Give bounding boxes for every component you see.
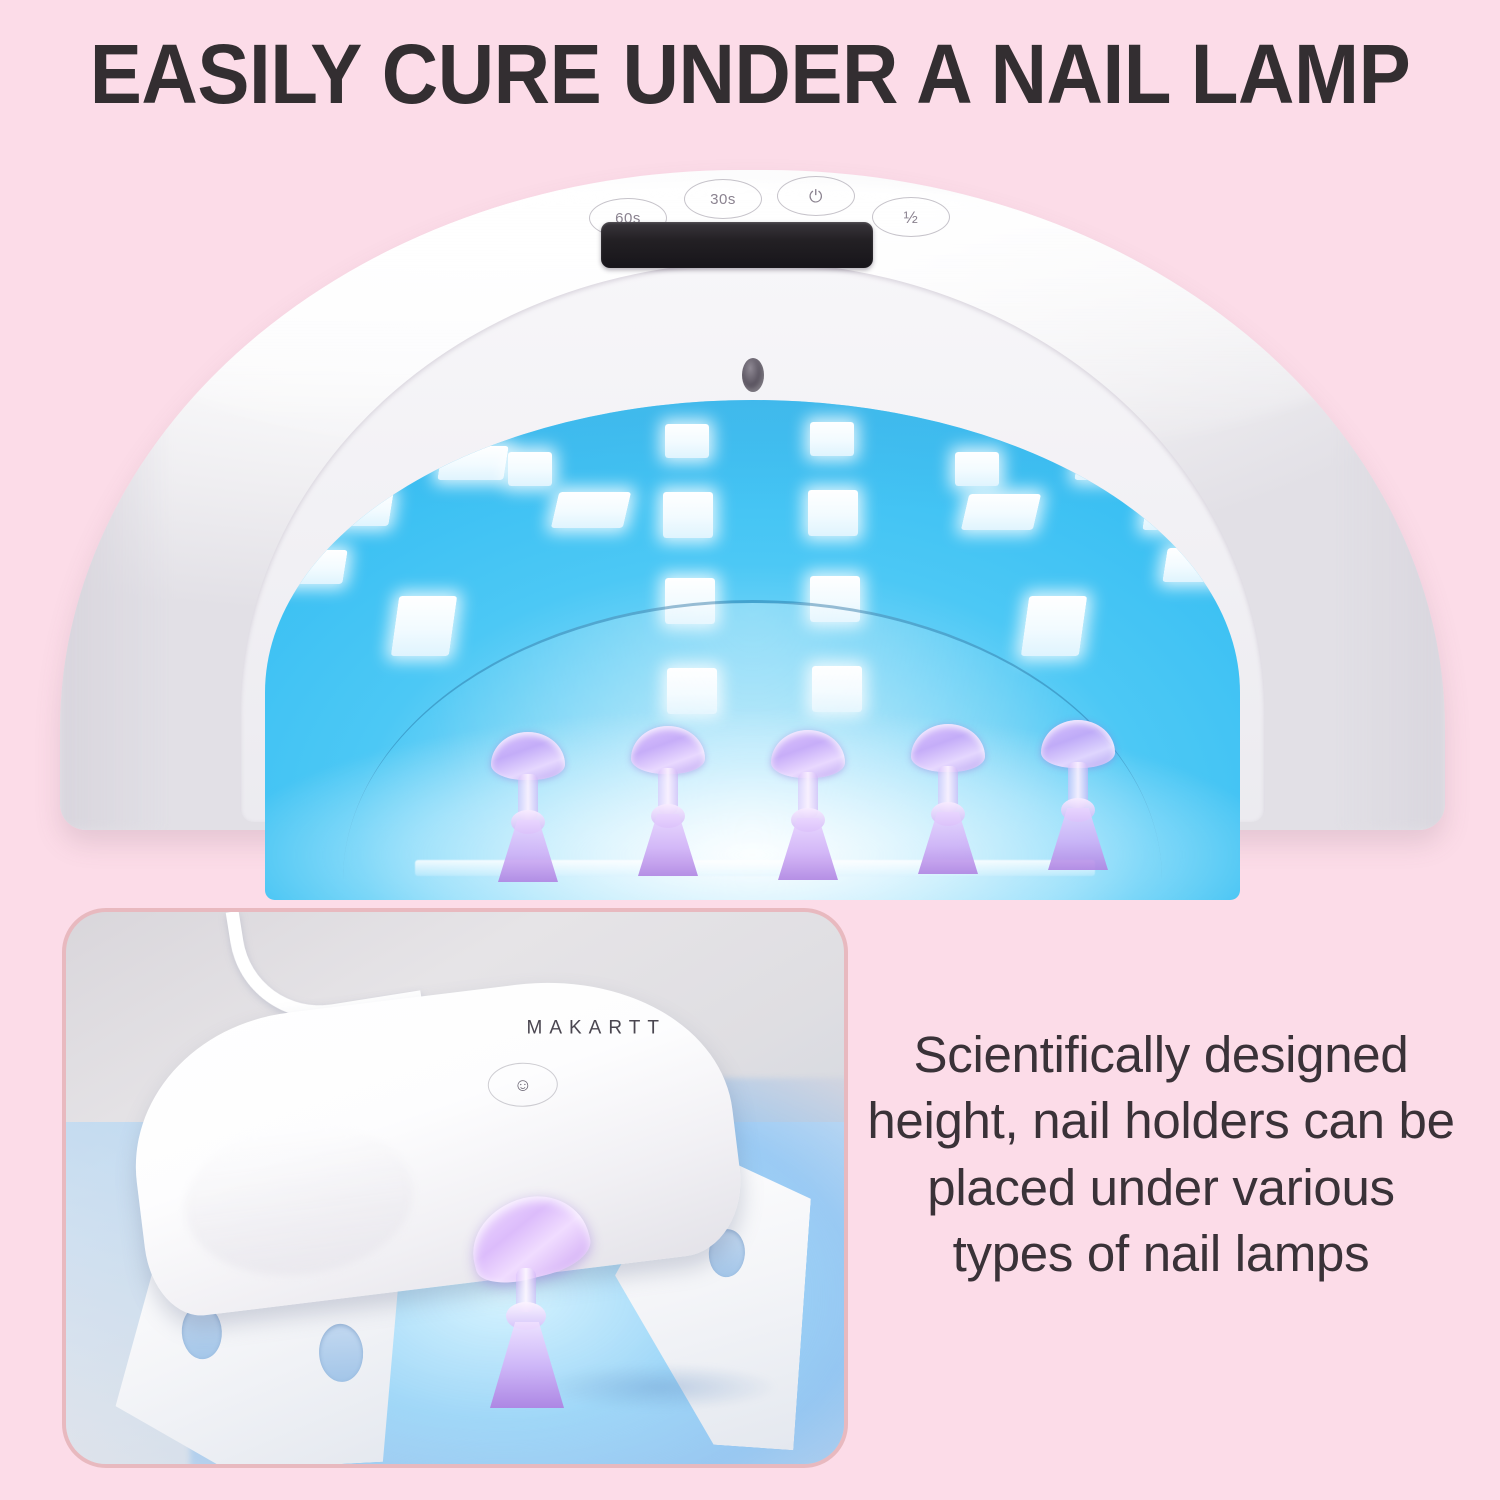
shell-right-edge-shade xyxy=(1335,328,1445,830)
lamp-curing-cavity xyxy=(265,400,1240,900)
led-light xyxy=(810,422,854,456)
led-light xyxy=(1074,446,1145,480)
led-light xyxy=(437,446,508,480)
led-light xyxy=(665,424,709,458)
nail-holder xyxy=(485,732,571,882)
shell-left-edge-shade xyxy=(60,328,170,830)
nail-holder-base xyxy=(638,814,698,876)
power-icon: ⏻ xyxy=(809,188,823,205)
half-power-icon: ½ xyxy=(904,209,919,226)
led-light xyxy=(1162,548,1233,582)
led-light xyxy=(955,452,999,486)
timer-30s-label: 30s xyxy=(710,191,736,208)
nail-holder xyxy=(905,724,991,874)
mini-lamp-photo-panel: MAKARTT ☺ xyxy=(62,908,848,1468)
nail-holder-cap xyxy=(1041,720,1115,768)
brand-logo: MAKARTT xyxy=(526,1017,665,1039)
led-light xyxy=(663,492,713,538)
nail-holder xyxy=(464,1198,592,1408)
led-light xyxy=(1021,596,1087,656)
nail-holder-base xyxy=(1048,808,1108,870)
led-light xyxy=(276,550,347,584)
nail-holder-cap xyxy=(911,724,985,772)
timer-30s-button[interactable]: 30s xyxy=(684,179,762,219)
smiley-power-button[interactable]: ☺ xyxy=(487,1062,558,1107)
nail-holder-base xyxy=(778,818,838,880)
nail-holder-base xyxy=(490,1322,564,1408)
leg-cutout xyxy=(318,1323,365,1383)
feature-caption: Scientifically designed height, nail hol… xyxy=(866,1022,1456,1287)
hero-product-image: 60s 30s ⏻ ½ xyxy=(60,170,1445,870)
nail-holder-base xyxy=(918,812,978,874)
nail-holder-cap xyxy=(631,726,705,774)
nail-holder xyxy=(765,730,851,880)
timer-half-button[interactable]: ½ xyxy=(872,197,950,237)
smiley-icon: ☺ xyxy=(513,1074,532,1095)
led-light xyxy=(508,452,552,486)
nail-holder-cap xyxy=(491,732,565,780)
led-light xyxy=(808,490,858,536)
motion-sensor-icon xyxy=(742,358,764,392)
nail-holder xyxy=(625,726,711,876)
page-title: EASILY CURE UNDER A NAIL LAMP xyxy=(53,30,1448,118)
led-light xyxy=(551,492,631,528)
lamp-body-highlight xyxy=(176,1111,423,1288)
nail-holder-base xyxy=(498,820,558,882)
lamp-control-panel: 60s 30s ⏻ ½ xyxy=(60,170,1445,290)
lcd-display xyxy=(601,222,873,268)
nail-holder-cap xyxy=(771,730,845,778)
led-light xyxy=(391,596,457,656)
nail-holder xyxy=(1035,720,1121,870)
led-light xyxy=(1142,496,1213,530)
power-button[interactable]: ⏻ xyxy=(777,176,855,216)
led-light xyxy=(322,492,393,526)
led-light xyxy=(961,494,1041,530)
